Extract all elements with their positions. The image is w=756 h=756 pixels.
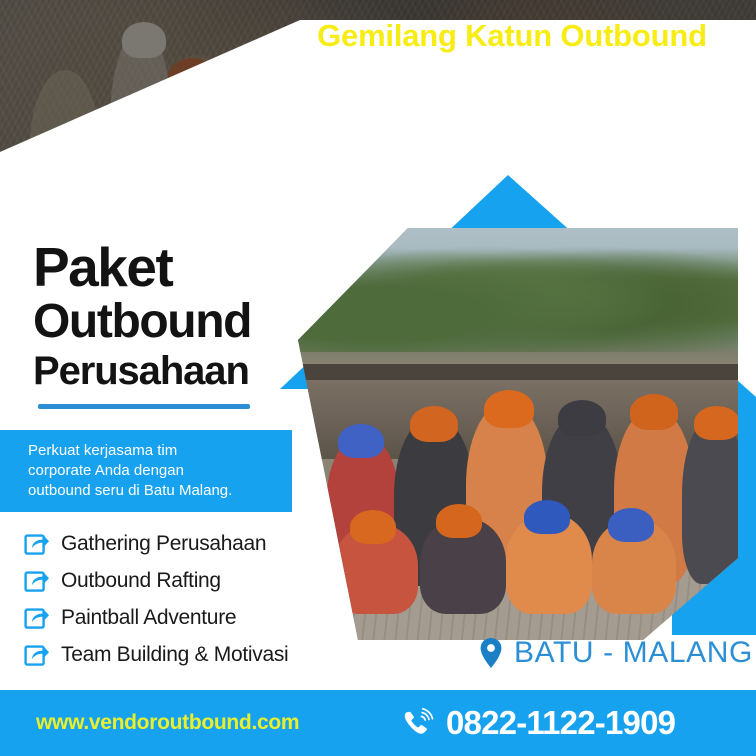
location-label: BATU - MALANG <box>514 636 753 670</box>
feature-item[interactable]: Outbound Rafting <box>24 562 364 599</box>
feature-label: Gathering Perusahaan <box>61 532 266 556</box>
website-link[interactable]: www.vendoroutbound.com <box>36 711 299 735</box>
feature-label: Paintball Adventure <box>61 606 236 630</box>
location-block: BATU - MALANG <box>480 636 753 670</box>
photo-helmet-front-2 <box>436 504 482 538</box>
photo-helmet-4 <box>558 400 606 436</box>
poster-canvas: Gemilang Katun Outbound Paket Outbound P… <box>0 0 756 756</box>
photo-roof-line <box>298 364 738 380</box>
feature-label: Outbound Rafting <box>61 569 221 593</box>
feature-item[interactable]: Paintball Adventure <box>24 599 364 636</box>
chevron-dot-right <box>703 155 720 172</box>
feature-item[interactable]: Gathering Perusahaan <box>24 525 364 562</box>
external-link-icon <box>24 605 50 631</box>
photo-person-back-6 <box>682 418 738 584</box>
feature-label: Team Building & Motivasi <box>61 643 288 667</box>
footer-bar: www.vendoroutbound.com 0822-1122-1909 <box>0 690 756 756</box>
photo-helmet-3 <box>484 390 534 428</box>
photo-helmet-5 <box>630 394 678 430</box>
photo-helmet-1 <box>338 424 384 458</box>
description-text: Perkuat kerjasama tim corporate Anda den… <box>0 441 242 501</box>
photo-helmet-6 <box>694 406 738 440</box>
external-link-icon <box>24 531 50 557</box>
external-link-icon <box>24 568 50 594</box>
phone-number: 0822-1122-1909 <box>446 704 675 742</box>
external-link-icon <box>24 642 50 668</box>
headline-line-2: Outbound <box>33 296 251 348</box>
description-box: Perkuat kerjasama tim corporate Anda den… <box>0 430 292 512</box>
map-pin-icon <box>480 638 502 668</box>
main-group-photo <box>298 228 738 640</box>
headline-line-1: Paket <box>33 238 251 296</box>
photo-helmet-2 <box>410 406 458 442</box>
brand-title: Gemilang Katun Outbound <box>278 18 746 54</box>
ringing-phone-icon <box>400 706 434 740</box>
feature-list: Gathering Perusahaan Outbound Rafting Pa… <box>24 525 364 673</box>
headline-block: Paket Outbound Perusahaan <box>33 238 251 394</box>
chevron-dot-left <box>288 159 305 176</box>
phone-contact[interactable]: 0822-1122-1909 <box>400 704 675 742</box>
headline-line-3: Perusahaan <box>33 348 251 394</box>
feature-item[interactable]: Team Building & Motivasi <box>24 636 364 673</box>
title-underline-rule <box>38 404 250 409</box>
photo-helmet-front-4 <box>608 508 654 542</box>
photo-helmet-front-3 <box>524 500 570 534</box>
